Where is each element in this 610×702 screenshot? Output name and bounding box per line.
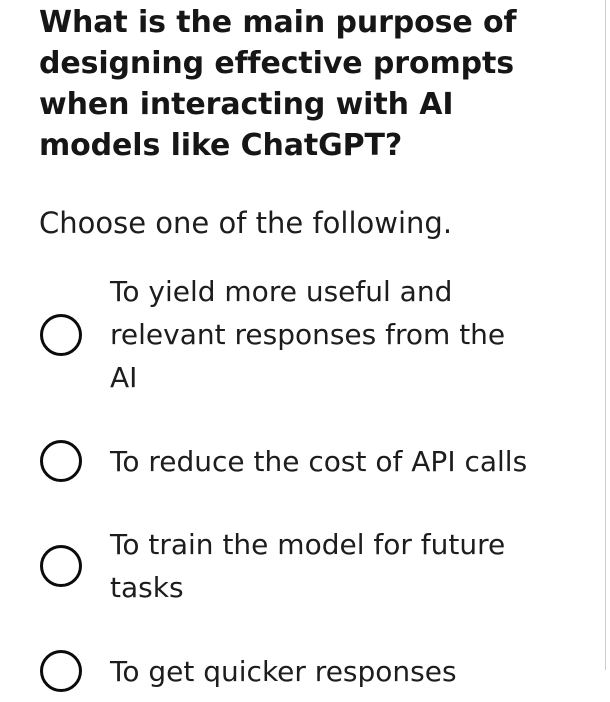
page-title: What is the main purpose of designing ef…: [39, 2, 539, 166]
answer-options-list: To yield more useful and relevant respon…: [0, 270, 605, 702]
quiz-question-card: What is the main purpose of designing ef…: [0, 0, 605, 670]
radio-unchecked-icon[interactable]: [40, 314, 82, 356]
radio-unchecked-icon[interactable]: [40, 650, 82, 692]
answer-option-0[interactable]: To yield more useful and relevant respon…: [0, 270, 605, 399]
answer-option-label: To get quicker responses: [110, 650, 550, 693]
answer-option-2[interactable]: To train the model for future tasks: [0, 523, 605, 609]
radio-unchecked-icon[interactable]: [40, 545, 82, 587]
choose-instruction: Choose one of the following.: [39, 204, 559, 242]
radio-unchecked-icon[interactable]: [40, 440, 82, 482]
right-edge-divider: [605, 0, 606, 670]
answer-option-label: To yield more useful and relevant respon…: [110, 270, 550, 399]
answer-option-label: To train the model for future tasks: [110, 523, 550, 609]
answer-option-label: To reduce the cost of API calls: [110, 440, 550, 483]
answer-option-3[interactable]: To get quicker responses: [0, 640, 605, 702]
answer-option-1[interactable]: To reduce the cost of API calls: [0, 430, 605, 492]
